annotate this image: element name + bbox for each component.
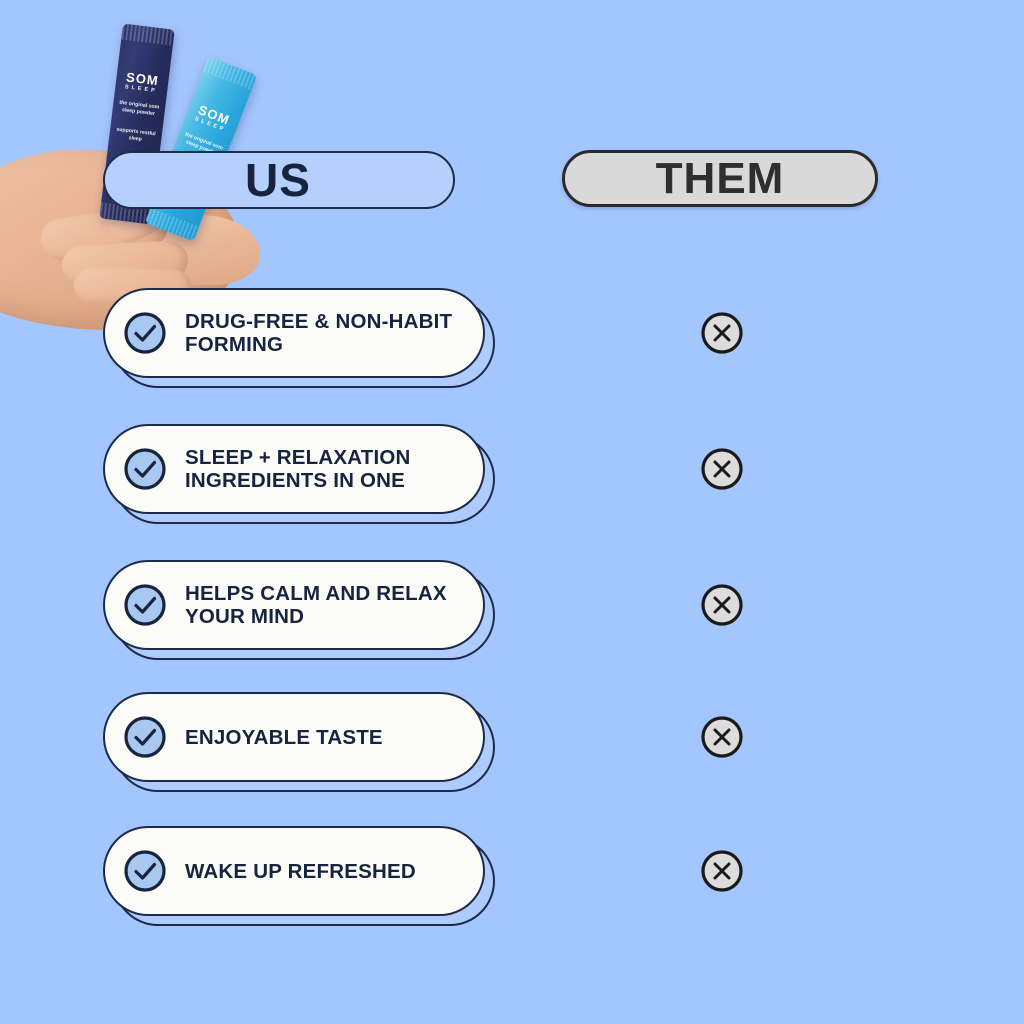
feature-label: ENJOYABLE TASTE — [185, 726, 383, 749]
feature-card[interactable]: WAKE UP REFRESHED — [103, 826, 485, 916]
packet-crimp-top — [121, 24, 175, 46]
packet-logo: SOM SLEEP — [185, 100, 241, 137]
feature-card-wrapper: DRUG-FREE & NON-HABIT FORMING — [103, 288, 485, 378]
comparison-infographic: SOM SLEEP the original som sleep powder … — [0, 0, 1024, 1024]
feature-row: ENJOYABLE TASTE — [0, 692, 1024, 788]
feature-label: DRUG-FREE & NON-HABIT FORMING — [185, 310, 483, 356]
feature-row: HELPS CALM AND RELAX YOUR MIND — [0, 560, 1024, 656]
feature-card-wrapper: WAKE UP REFRESHED — [103, 826, 485, 916]
x-circle-icon — [700, 849, 744, 893]
x-circle-icon — [700, 583, 744, 627]
them-label: THEM — [656, 157, 785, 201]
packet-crimp-top — [203, 57, 257, 91]
feature-label: HELPS CALM AND RELAX YOUR MIND — [185, 582, 483, 628]
feature-card[interactable]: ENJOYABLE TASTE — [103, 692, 485, 782]
feature-card-wrapper: HELPS CALM AND RELAX YOUR MIND — [103, 560, 485, 650]
x-circle-icon — [700, 311, 744, 355]
check-circle-icon — [123, 311, 167, 355]
column-header-us: US — [103, 151, 455, 209]
column-header-them: THEM — [562, 150, 878, 207]
check-circle-icon — [123, 583, 167, 627]
check-circle-icon — [123, 447, 167, 491]
feature-label: SLEEP + RELAXATION INGREDIENTS IN ONE — [185, 446, 483, 492]
check-circle-icon — [123, 849, 167, 893]
feature-row: SLEEP + RELAXATION INGREDIENTS IN ONE — [0, 424, 1024, 520]
feature-card-wrapper: SLEEP + RELAXATION INGREDIENTS IN ONE — [103, 424, 485, 514]
feature-row: WAKE UP REFRESHED — [0, 826, 1024, 922]
check-circle-icon — [123, 715, 167, 759]
feature-label: WAKE UP REFRESHED — [185, 860, 416, 883]
feature-card[interactable]: SLEEP + RELAXATION INGREDIENTS IN ONE — [103, 424, 485, 514]
us-label: US — [245, 157, 311, 203]
feature-card[interactable]: HELPS CALM AND RELAX YOUR MIND — [103, 560, 485, 650]
feature-card-wrapper: ENJOYABLE TASTE — [103, 692, 485, 782]
packet-logo: SOM SLEEP — [115, 69, 169, 95]
feature-card[interactable]: DRUG-FREE & NON-HABIT FORMING — [103, 288, 485, 378]
x-circle-icon — [700, 447, 744, 491]
feature-row: DRUG-FREE & NON-HABIT FORMING — [0, 288, 1024, 384]
x-circle-icon — [700, 715, 744, 759]
